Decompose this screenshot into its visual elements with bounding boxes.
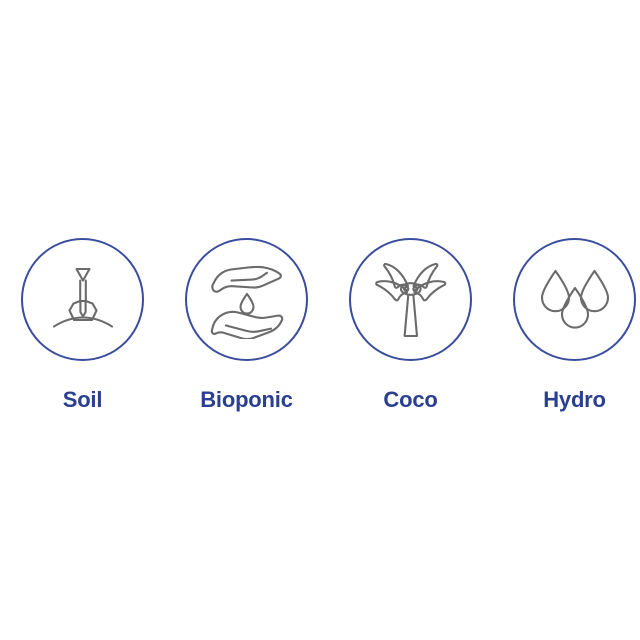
option-hydro[interactable]: Hydro <box>513 238 636 413</box>
option-bioponic-label: Bioponic <box>200 387 293 413</box>
growing-medium-option-row: Soil <box>21 238 636 413</box>
hands-water-drop-icon <box>207 261 287 339</box>
option-bioponic[interactable]: Bioponic <box>185 238 308 413</box>
option-hydro-icon-circle[interactable] <box>513 238 636 361</box>
option-coco-label: Coco <box>383 387 437 413</box>
option-hydro-label: Hydro <box>543 387 606 413</box>
growing-medium-selector: Soil <box>0 0 640 640</box>
water-drops-icon <box>539 269 611 331</box>
option-coco-icon-circle[interactable] <box>349 238 472 361</box>
option-soil-icon-circle[interactable] <box>21 238 144 361</box>
option-bioponic-icon-circle[interactable] <box>185 238 308 361</box>
palm-tree-icon <box>373 260 449 340</box>
shovel-icon <box>50 264 116 336</box>
option-soil-label: Soil <box>63 387 103 413</box>
option-soil[interactable]: Soil <box>21 238 144 413</box>
option-coco[interactable]: Coco <box>349 238 472 413</box>
